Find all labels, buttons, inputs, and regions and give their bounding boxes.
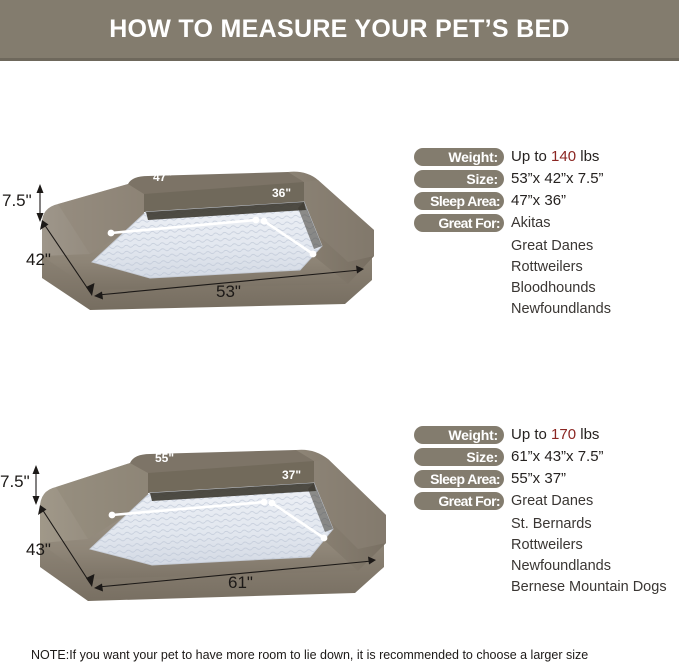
size-value: 53”x 42”x 7.5” <box>511 170 604 188</box>
weight-number: 140 <box>551 148 576 165</box>
great-for-pill-label: Great For: <box>414 492 504 510</box>
weight-pill-label: Weight: <box>414 148 504 166</box>
large-bed-specs: Weight: Up to 140 lbs Size: 53”x 42”x 7.… <box>414 148 679 320</box>
header-divider <box>0 58 679 61</box>
sleep-area-pill-label: Sleep Area: <box>414 192 504 210</box>
spec-row-size: Size: 53”x 42”x 7.5” <box>414 170 679 192</box>
weight-prefix: Up to <box>511 148 547 165</box>
weight-value: Up to 140 lbs <box>511 148 599 166</box>
sleep-area-value: 47”x 36” <box>511 192 566 210</box>
spec-row-weight: Weight: Up to 140 lbs <box>414 148 679 170</box>
xlarge-bed-figure: 7.5" 43" 61" 55" 37" <box>0 425 410 620</box>
large-bed-height-label: 7.5" <box>2 191 32 211</box>
weight-prefix: Up to <box>511 426 547 443</box>
size-pill-label: Size: <box>414 448 504 466</box>
breed-item: Rottweilers <box>511 535 679 556</box>
xlarge-bed-sleep-width-label: 55" <box>155 451 174 465</box>
xlarge-bed-height-label: 7.5" <box>0 472 30 492</box>
xlarge-bed-depth-label: 43" <box>26 540 51 560</box>
sleep-area-value: 55”x 37” <box>511 470 566 488</box>
weight-pill-label: Weight: <box>414 426 504 444</box>
breed-item: Newfoundlands <box>511 299 679 320</box>
xlarge-bed-illustration <box>0 425 410 620</box>
large-bed-sleep-width-label: 47" <box>153 170 172 184</box>
spec-row-weight: Weight: Up to 170 lbs <box>414 426 679 448</box>
size-value: 61”x 43”x 7.5” <box>511 448 604 466</box>
xlarge-bed-width-label: 61" <box>228 573 253 593</box>
xlarge-bed-sleep-depth-label: 37" <box>282 468 301 482</box>
large-bed-sleep-depth-label: 36" <box>272 186 291 200</box>
large-bed-illustration <box>0 150 400 320</box>
breed-item: Bloodhounds <box>511 278 679 299</box>
breed-item: Akitas <box>511 214 551 232</box>
breed-item: Bernese Mountain Dogs <box>511 577 679 598</box>
spec-row-great-for: Great For: Great Danes <box>414 492 679 514</box>
large-bed-breed-list: Great Danes Rottweilers Bloodhounds Newf… <box>511 236 679 320</box>
weight-unit: lbs <box>580 148 599 165</box>
spec-row-sleep-area: Sleep Area: 55”x 37” <box>414 470 679 492</box>
breed-item: Rottweilers <box>511 257 679 278</box>
page-title: HOW TO MEASURE YOUR PET’S BED <box>109 15 570 44</box>
footer-note: NOTE:If you want your pet to have more r… <box>31 648 588 662</box>
page-header: HOW TO MEASURE YOUR PET’S BED <box>0 0 679 58</box>
large-bed-figure: 7.5" 42" 53" 47" 36" <box>0 150 400 320</box>
large-bed-depth-label: 42" <box>26 250 51 270</box>
spec-row-great-for: Great For: Akitas <box>414 214 679 236</box>
spec-row-size: Size: 61”x 43”x 7.5” <box>414 448 679 470</box>
weight-unit: lbs <box>580 426 599 443</box>
size-pill-label: Size: <box>414 170 504 188</box>
spec-row-sleep-area: Sleep Area: 47”x 36” <box>414 192 679 214</box>
breed-item: Great Danes <box>511 236 679 257</box>
xlarge-bed-specs: Weight: Up to 170 lbs Size: 61”x 43”x 7.… <box>414 426 679 598</box>
xlarge-bed-breed-list: St. Bernards Rottweilers Newfoundlands B… <box>511 514 679 598</box>
sleep-area-pill-label: Sleep Area: <box>414 470 504 488</box>
breed-item: St. Bernards <box>511 514 679 535</box>
weight-value: Up to 170 lbs <box>511 426 599 444</box>
weight-number: 170 <box>551 426 576 443</box>
breed-item: Newfoundlands <box>511 556 679 577</box>
breed-item: Great Danes <box>511 492 593 510</box>
great-for-pill-label: Great For: <box>414 214 504 232</box>
large-bed-width-label: 53" <box>216 282 241 302</box>
